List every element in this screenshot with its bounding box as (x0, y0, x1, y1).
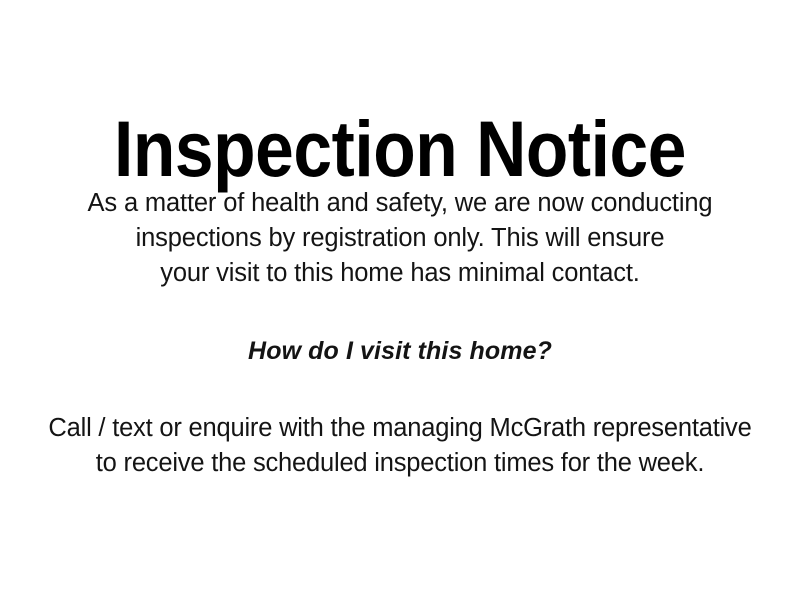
intro-paragraph: As a matter of health and safety, we are… (0, 186, 800, 291)
intro-line-1: As a matter of health and safety, we are… (0, 186, 800, 221)
contact-line-2: to receive the scheduled inspection time… (0, 446, 800, 481)
intro-line-3: your visit to this home has minimal cont… (0, 256, 800, 291)
contact-line-1: Call / text or enquire with the managing… (0, 411, 800, 446)
question-heading: How do I visit this home? (0, 335, 800, 367)
spacer-below-question (0, 367, 800, 411)
intro-line-2: inspections by registration only. This w… (0, 221, 800, 256)
page-title: Inspection Notice (48, 109, 752, 188)
contact-paragraph: Call / text or enquire with the managing… (0, 411, 800, 481)
spacer-above-question (0, 291, 800, 335)
inspection-notice-page: Inspection Notice As a matter of health … (0, 0, 800, 600)
notice-body: As a matter of health and safety, we are… (0, 186, 800, 481)
